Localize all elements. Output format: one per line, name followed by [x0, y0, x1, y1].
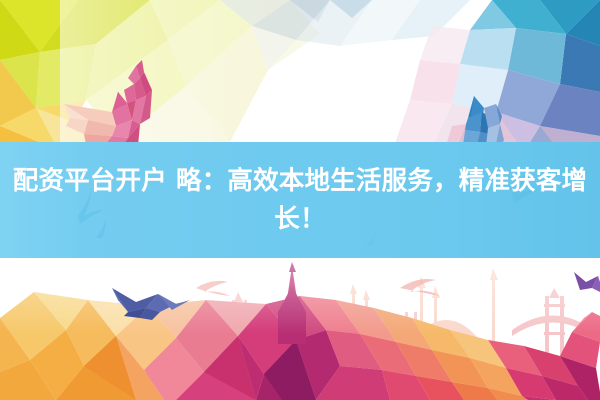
promo-banner: 配资平台开户 略：高效本地生活服务，精准获客增 长！ [0, 0, 600, 400]
bottom-skyline-artwork [0, 0, 600, 400]
